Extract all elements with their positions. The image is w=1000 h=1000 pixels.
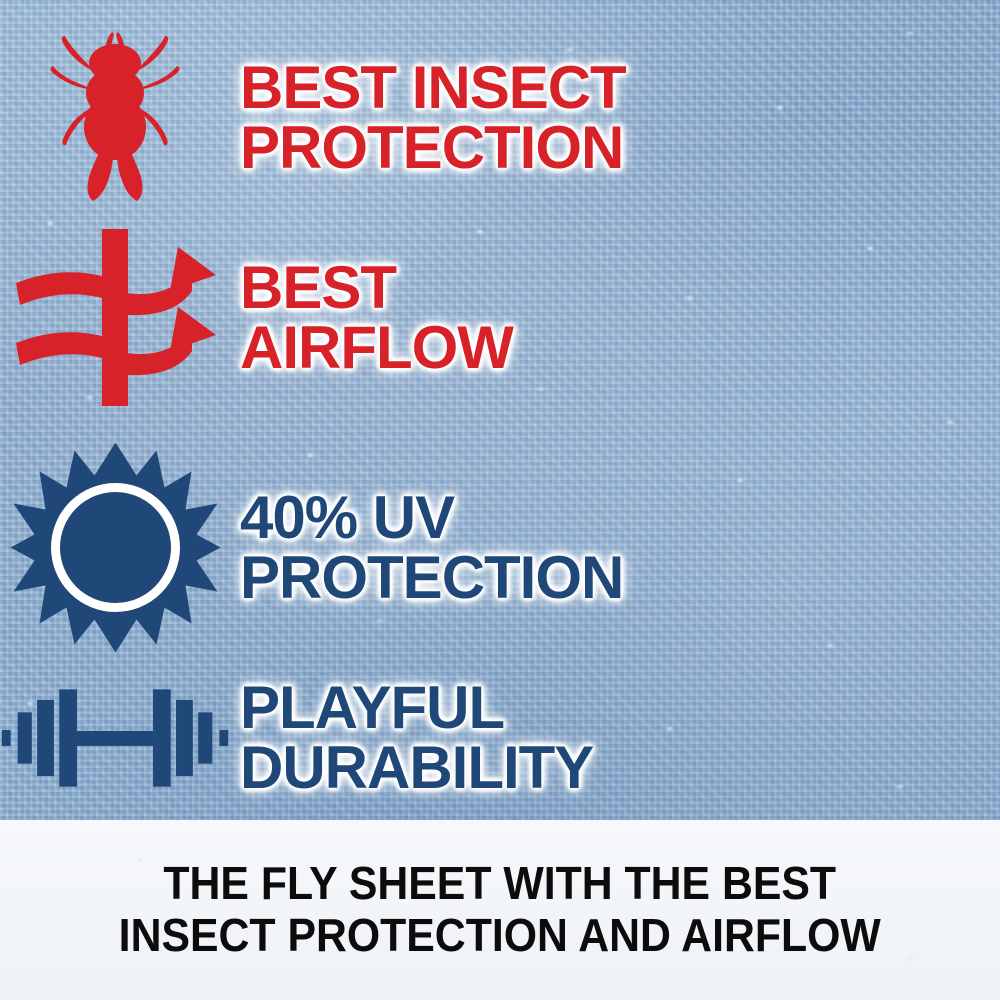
fly-icon-cell	[0, 23, 230, 213]
uv-protection-label-cell: 40% UV PROTECTION	[230, 488, 623, 608]
dumbbell-icon-cell	[0, 673, 230, 803]
feature-row-durability: PLAYFUL DURABILITY	[0, 655, 1000, 820]
feature-label-durability: PLAYFUL DURABILITY	[240, 678, 593, 798]
feature-row-insect-protection: BEST INSECT PROTECTION	[0, 20, 1000, 215]
insect-protection-label-cell: BEST INSECT PROTECTION	[230, 58, 626, 178]
feature-row-uv-protection: 40% UV PROTECTION	[0, 440, 1000, 655]
sun-icon-cell	[0, 440, 230, 655]
feature-list: BEST INSECT PROTECTION	[0, 0, 1000, 828]
feature-row-airflow: BEST AIRFLOW	[0, 225, 1000, 410]
airflow-label-cell: BEST AIRFLOW	[230, 258, 513, 378]
feature-label-airflow: BEST AIRFLOW	[240, 258, 513, 378]
sun-burst-icon	[8, 440, 223, 655]
dumbbell-icon	[0, 673, 230, 803]
feature-label-insect-protection: BEST INSECT PROTECTION	[240, 58, 626, 178]
caption-text: THE FLY SHEET WITH THE BEST INSECT PROTE…	[119, 858, 881, 961]
caption-panel: THE FLY SHEET WITH THE BEST INSECT PROTE…	[0, 820, 1000, 1000]
durability-label-cell: PLAYFUL DURABILITY	[230, 678, 593, 798]
feature-label-uv-protection: 40% UV PROTECTION	[240, 488, 623, 608]
product-feature-poster: BEST INSECT PROTECTION	[0, 0, 1000, 1000]
airflow-arrows-icon	[10, 225, 220, 410]
fly-icon	[35, 23, 195, 213]
airflow-icon-cell	[0, 225, 230, 410]
